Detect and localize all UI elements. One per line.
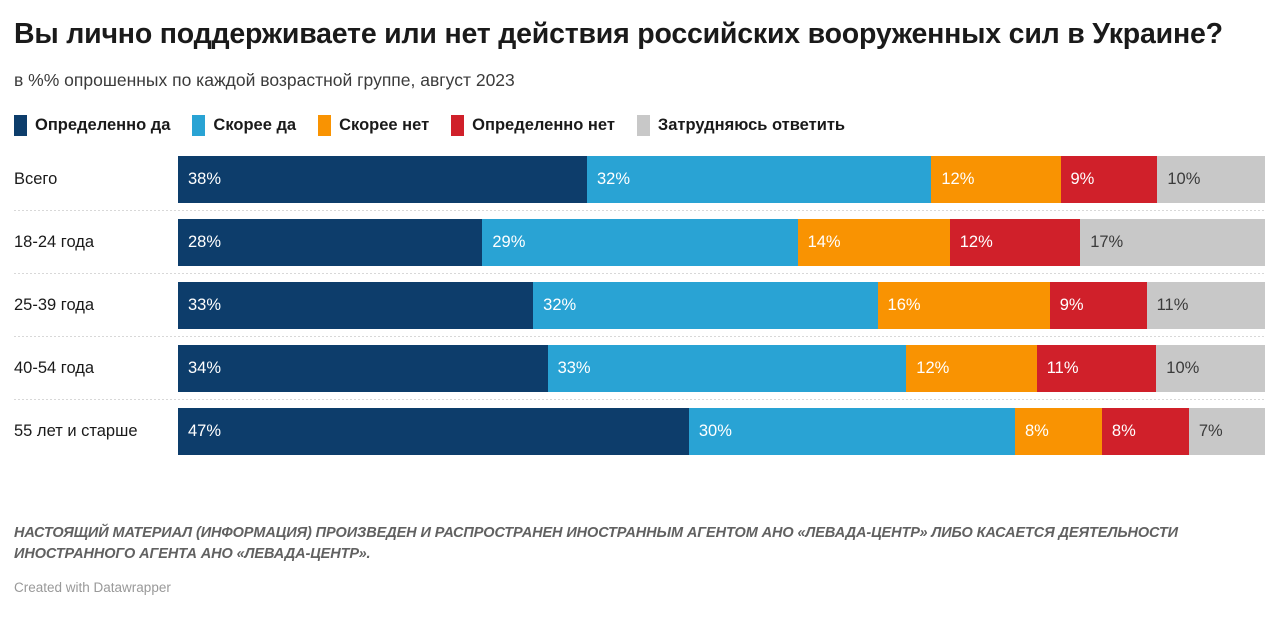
stacked-bar: 28%29%14%12%17% <box>178 219 1265 266</box>
legend-item[interactable]: Определенно да <box>14 115 170 136</box>
bar-segment[interactable]: 12% <box>950 219 1080 266</box>
legend-item-label: Затрудняюсь ответить <box>658 117 845 134</box>
legend-item[interactable]: Определенно нет <box>451 115 615 136</box>
bar-segment[interactable]: 47% <box>178 408 689 455</box>
chart-row: 40-54 года34%33%12%11%10% <box>14 345 1266 408</box>
bar-segment[interactable]: 11% <box>1037 345 1157 392</box>
bar-segment-value-label: 33% <box>188 296 221 315</box>
bar-segment[interactable]: 12% <box>931 156 1060 203</box>
legend-swatch-icon <box>637 115 650 136</box>
bar-segment[interactable]: 34% <box>178 345 548 392</box>
foreign-agent-disclaimer: НАСТОЯЩИЙ МАТЕРИАЛ (ИНФОРМАЦИЯ) ПРОИЗВЕД… <box>14 523 1266 565</box>
bar-segment-value-label: 9% <box>1071 170 1095 189</box>
bar-segment-value-label: 38% <box>188 170 221 189</box>
bar-segment-value-label: 10% <box>1167 170 1200 189</box>
bar-segment[interactable]: 11% <box>1147 282 1265 329</box>
bar-segment[interactable]: 10% <box>1156 345 1265 392</box>
chart-plot-area: Всего38%32%12%9%10%18-24 года28%29%14%12… <box>14 156 1266 466</box>
bar-segment-value-label: 29% <box>492 233 525 252</box>
legend-swatch-icon <box>451 115 464 136</box>
bar-segment-value-label: 12% <box>916 359 949 378</box>
bar-segment-value-label: 47% <box>188 422 221 441</box>
stacked-bar: 47%30%8%8%7% <box>178 408 1265 455</box>
bar-segment[interactable]: 28% <box>178 219 482 266</box>
chart-row: 55 лет и старше47%30%8%8%7% <box>14 408 1266 466</box>
bar-segment[interactable]: 17% <box>1080 219 1265 266</box>
legend-item[interactable]: Скорее да <box>192 115 296 136</box>
bar-segment-value-label: 12% <box>960 233 993 252</box>
legend-item-label: Определенно нет <box>472 117 615 134</box>
bar-segment-value-label: 8% <box>1025 422 1049 441</box>
bar-segment[interactable]: 16% <box>878 282 1050 329</box>
legend-item-label: Определенно да <box>35 117 170 134</box>
bar-segment-value-label: 28% <box>188 233 221 252</box>
row-separator <box>14 399 1266 400</box>
row-category-label: 25-39 года <box>14 282 170 329</box>
row-category-label: 40-54 года <box>14 345 170 392</box>
chart-row: 18-24 года28%29%14%12%17% <box>14 219 1266 282</box>
bar-segment[interactable]: 33% <box>548 345 907 392</box>
chart-footer: НАСТОЯЩИЙ МАТЕРИАЛ (ИНФОРМАЦИЯ) ПРОИЗВЕД… <box>14 523 1266 595</box>
bar-segment[interactable]: 30% <box>689 408 1015 455</box>
bar-segment-value-label: 7% <box>1199 422 1223 441</box>
chart-subtitle: в %% опрошенных по каждой возрастной гру… <box>14 52 1266 92</box>
bar-segment[interactable]: 8% <box>1015 408 1102 455</box>
chart-container: Вы лично поддерживаете или нет действия … <box>0 0 1280 622</box>
row-separator <box>14 210 1266 211</box>
row-separator <box>14 273 1266 274</box>
bar-segment[interactable]: 9% <box>1050 282 1147 329</box>
bar-segment[interactable]: 10% <box>1157 156 1265 203</box>
legend-swatch-icon <box>192 115 205 136</box>
bar-segment-value-label: 17% <box>1090 233 1123 252</box>
datawrapper-credit: Created with Datawrapper <box>14 565 1266 595</box>
row-separator <box>14 336 1266 337</box>
bar-segment[interactable]: 32% <box>587 156 931 203</box>
bar-segment-value-label: 11% <box>1047 359 1079 378</box>
bar-segment[interactable]: 29% <box>482 219 797 266</box>
row-category-label: Всего <box>14 156 170 203</box>
bar-segment[interactable]: 38% <box>178 156 587 203</box>
legend-item[interactable]: Затрудняюсь ответить <box>637 115 845 136</box>
row-category-label: 18-24 года <box>14 219 170 266</box>
bar-segment[interactable]: 32% <box>533 282 877 329</box>
bar-segment-value-label: 8% <box>1112 422 1136 441</box>
stacked-bar: 38%32%12%9%10% <box>178 156 1265 203</box>
bar-segment[interactable]: 33% <box>178 282 533 329</box>
bar-segment[interactable]: 9% <box>1061 156 1158 203</box>
legend-swatch-icon <box>14 115 27 136</box>
row-category-label: 55 лет и старше <box>14 408 170 455</box>
bar-segment-value-label: 9% <box>1060 296 1084 315</box>
bar-segment[interactable]: 8% <box>1102 408 1189 455</box>
bar-segment[interactable]: 12% <box>906 345 1036 392</box>
legend-item[interactable]: Скорее нет <box>318 115 429 136</box>
bar-segment-value-label: 34% <box>188 359 221 378</box>
bar-segment-value-label: 14% <box>808 233 841 252</box>
bar-segment-value-label: 32% <box>543 296 576 315</box>
bar-segment-value-label: 11% <box>1157 296 1189 315</box>
chart-title: Вы лично поддерживаете или нет действия … <box>14 0 1266 52</box>
chart-row: 25-39 года33%32%16%9%11% <box>14 282 1266 345</box>
bar-segment-value-label: 16% <box>888 296 921 315</box>
chart-legend: Определенно даСкорее даСкорее нетОпредел… <box>14 92 1266 136</box>
bar-segment-value-label: 30% <box>699 422 732 441</box>
bar-segment-value-label: 33% <box>558 359 591 378</box>
stacked-bar: 34%33%12%11%10% <box>178 345 1265 392</box>
legend-item-label: Скорее да <box>213 117 296 134</box>
bar-segment-value-label: 10% <box>1166 359 1199 378</box>
bar-segment-value-label: 12% <box>941 170 974 189</box>
bar-segment-value-label: 32% <box>597 170 630 189</box>
bar-segment[interactable]: 14% <box>798 219 950 266</box>
stacked-bar: 33%32%16%9%11% <box>178 282 1265 329</box>
bar-segment[interactable]: 7% <box>1189 408 1265 455</box>
legend-swatch-icon <box>318 115 331 136</box>
chart-row: Всего38%32%12%9%10% <box>14 156 1266 219</box>
legend-item-label: Скорее нет <box>339 117 429 134</box>
